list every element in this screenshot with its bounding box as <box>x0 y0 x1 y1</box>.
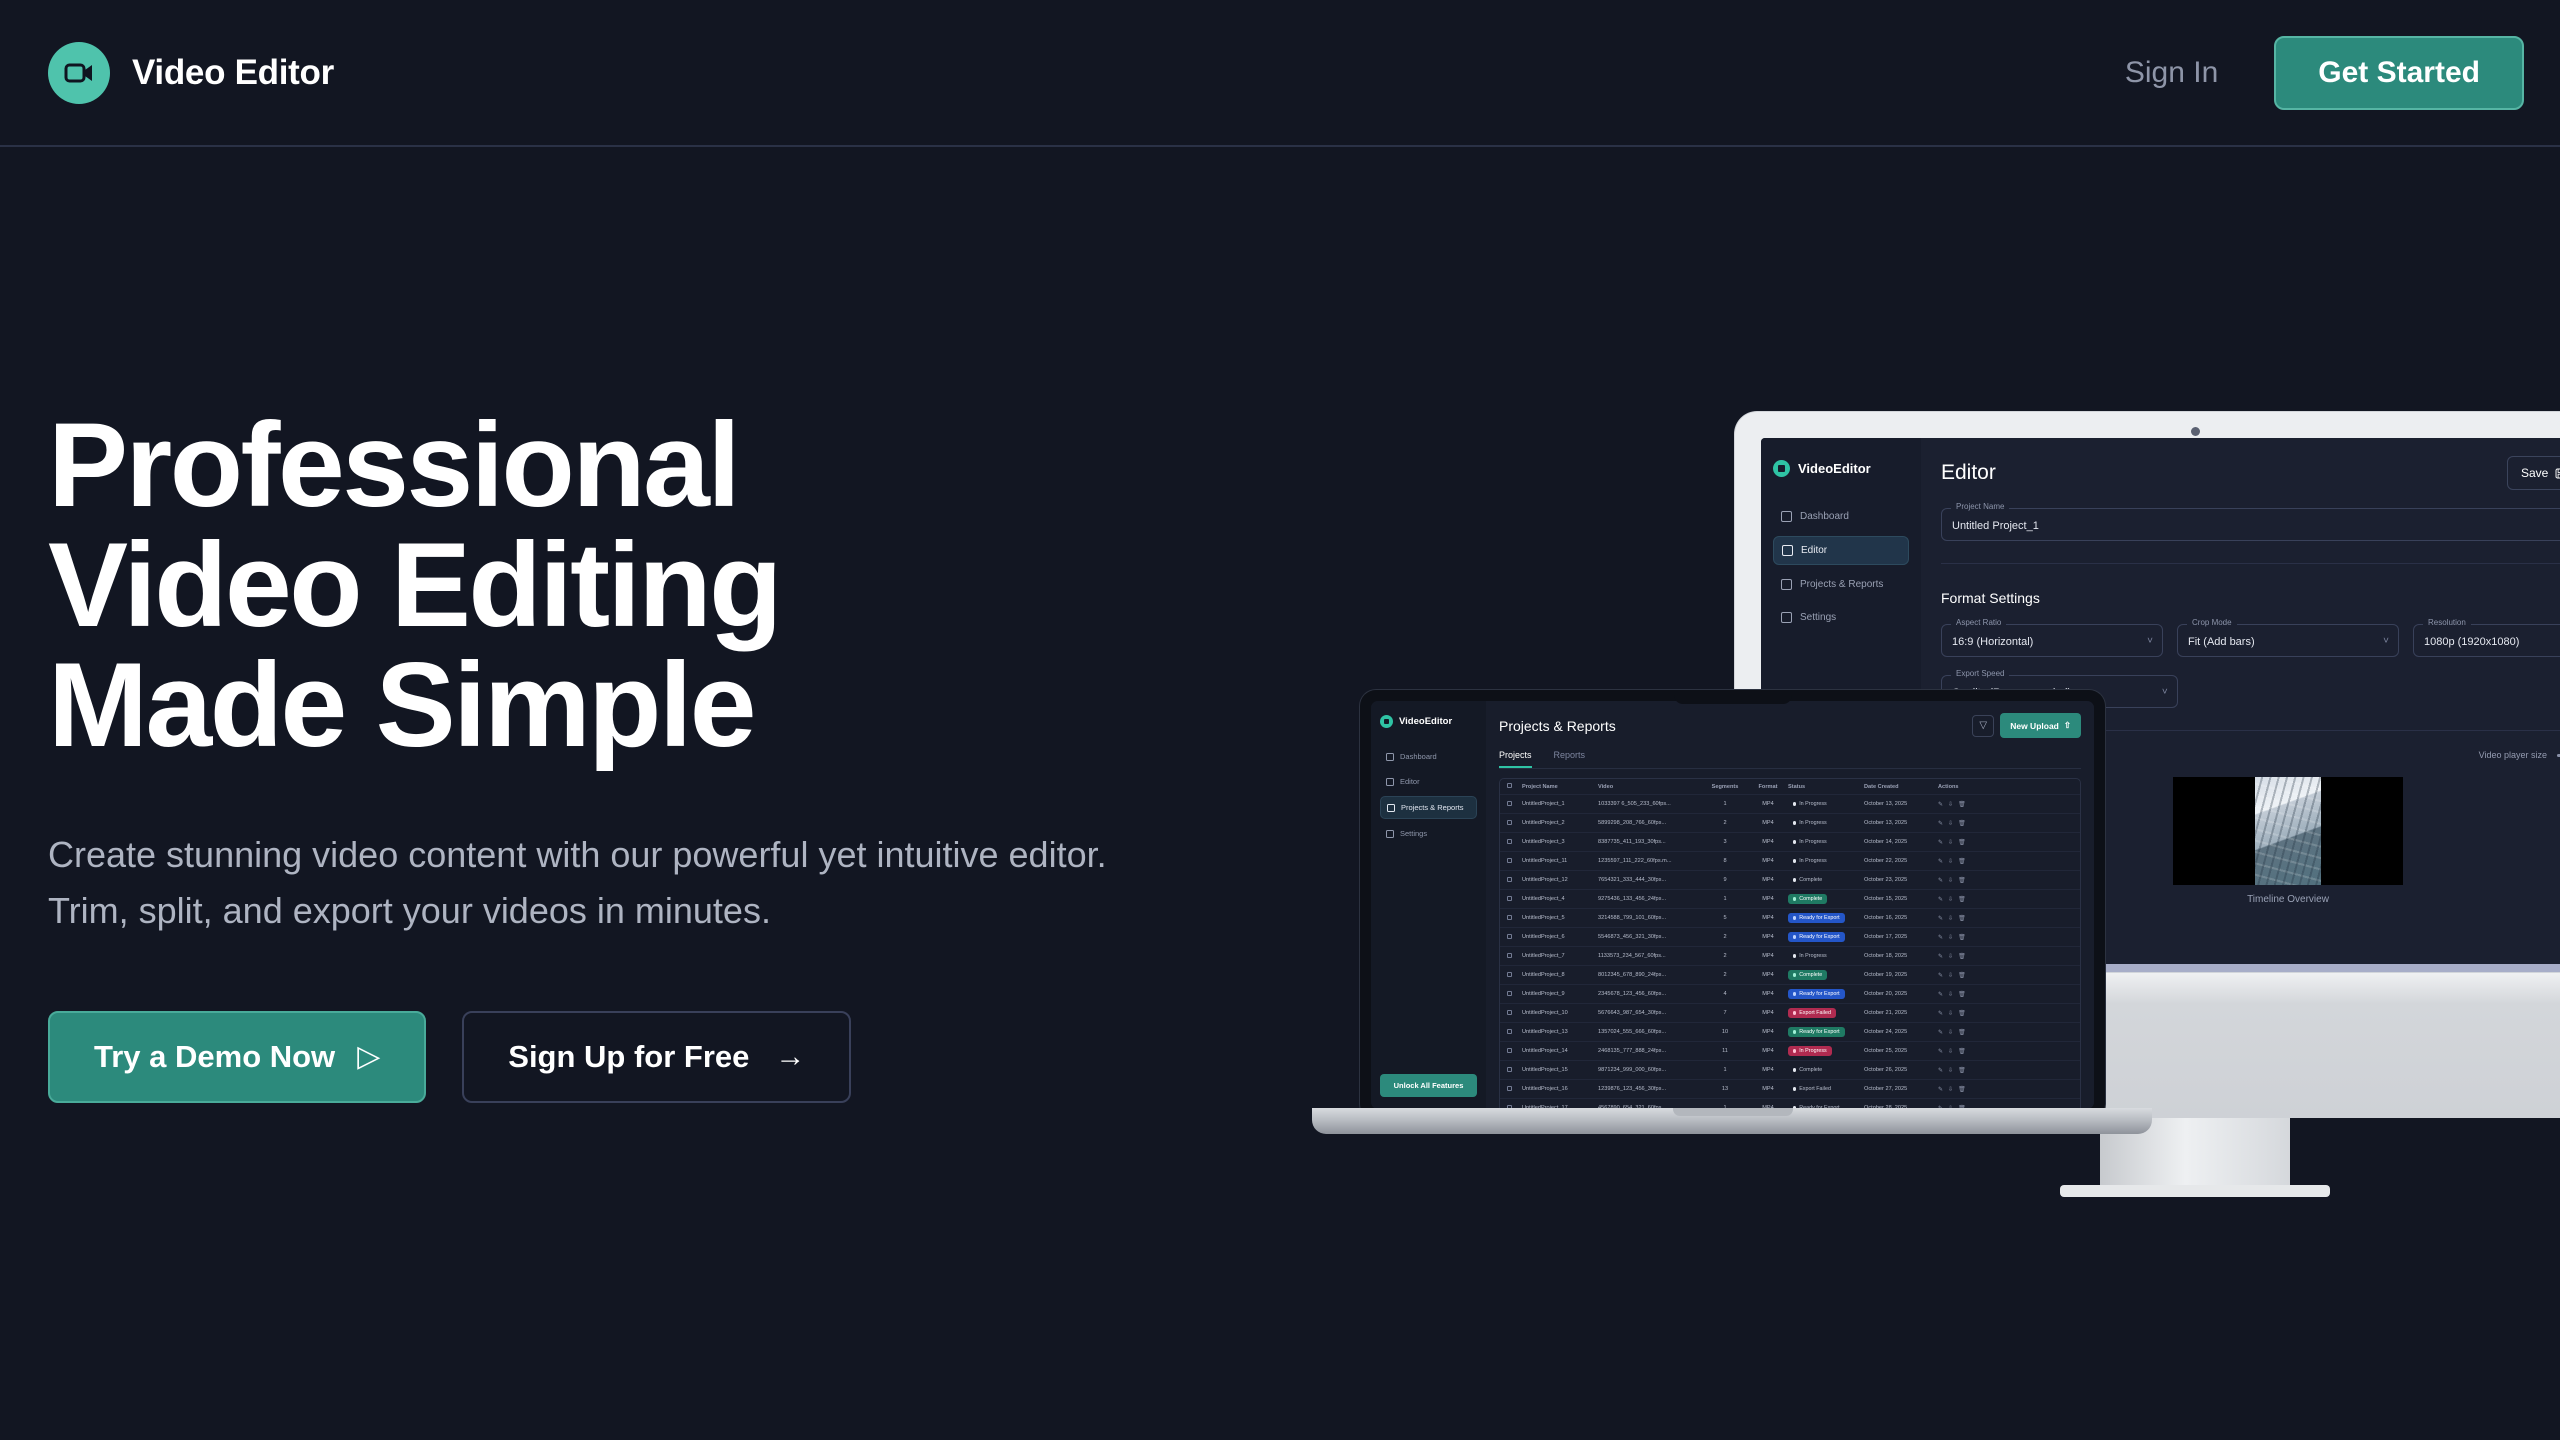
cell-format: MP4 <box>1748 858 1788 864</box>
cell-project-name: UntitledProject_1 <box>1522 801 1598 807</box>
funnel-icon[interactable]: ▽ <box>1972 715 1994 737</box>
sidebar-item-label: Editor <box>1400 777 1420 786</box>
cell-video: 2468135_777_888_24fps... <box>1598 1048 1702 1054</box>
cell-project-name: UntitledProject_5 <box>1522 915 1598 921</box>
download-icon[interactable]: ⇩ <box>1948 801 1953 808</box>
upload-icon: ⇧ <box>2064 720 2071 731</box>
cell-format: MP4 <box>1748 877 1788 883</box>
project-name-value: Untitled Project_1 <box>1952 520 2039 532</box>
sidebar-item-projects-reports[interactable]: Projects & Reports <box>1380 796 1477 819</box>
table-row[interactable]: UntitledProject_161239876_123_456_30fps.… <box>1500 1080 2080 1099</box>
sidebar-item-label: Projects & Reports <box>1401 803 1464 812</box>
cell-date-created: October 24, 2025 <box>1864 1029 1938 1035</box>
sidebar-item-settings[interactable]: Settings <box>1773 604 1909 631</box>
table-row[interactable]: UntitledProject_159871234_999_000_60fps.… <box>1500 1061 2080 1080</box>
status-badge: Ready for Export <box>1788 989 1845 999</box>
status-label: Export Failed <box>1799 1010 1831 1016</box>
delete-icon[interactable]: 🗑 <box>1958 915 1966 922</box>
status-label: Ready for Export <box>1799 991 1839 997</box>
cell-video: 7654321_333_444_30fps... <box>1598 877 1702 883</box>
laptop-app-brand-label: VideoEditor <box>1399 716 1452 727</box>
folder-icon <box>1781 579 1792 590</box>
cell-format: MP4 <box>1748 896 1788 902</box>
hero-section: Professional Video Editing Made Simple C… <box>48 405 1148 1103</box>
sidebar-item-dashboard[interactable]: Dashboard <box>1773 503 1909 530</box>
delete-icon[interactable]: 🗑 <box>1958 953 1966 960</box>
slider-label: Video player size <box>2479 750 2547 760</box>
edit-icon[interactable]: ✎ <box>1938 1029 1943 1036</box>
status-dot <box>1793 802 1796 805</box>
cell-project-name: UntitledProject_15 <box>1522 1067 1598 1073</box>
project-name-label: Project Name <box>1951 502 2009 511</box>
status-dot <box>1793 1011 1796 1014</box>
cell-format: MP4 <box>1748 972 1788 978</box>
brand-logo[interactable]: Video Editor <box>48 42 334 104</box>
download-icon[interactable]: ⇩ <box>1948 934 1953 941</box>
download-icon[interactable]: ⇩ <box>1948 991 1953 998</box>
row-checkbox[interactable] <box>1507 896 1512 901</box>
video-icon <box>1782 545 1793 556</box>
column-header-format[interactable]: Format <box>1748 784 1788 790</box>
row-checkbox[interactable] <box>1507 915 1512 920</box>
sidebar-item-label: Dashboard <box>1400 752 1437 761</box>
cell-segments: 10 <box>1702 1029 1748 1035</box>
status-badge: Ready for Export <box>1788 932 1845 942</box>
download-icon[interactable]: ⇩ <box>1948 1010 1953 1017</box>
sign-in-button[interactable]: Sign In <box>2125 56 2218 90</box>
cell-segments: 11 <box>1702 1048 1748 1054</box>
cell-segments: 8 <box>1702 858 1748 864</box>
sidebar-item-projects-reports[interactable]: Projects & Reports <box>1773 571 1909 598</box>
cell-format: MP4 <box>1748 1029 1788 1035</box>
status-dot <box>1793 821 1796 824</box>
save-button[interactable]: Save <box>2507 456 2560 490</box>
table-row[interactable]: UntitledProject_49275436_133_456_24fps..… <box>1500 890 2080 909</box>
gauge-icon <box>1781 511 1792 522</box>
cell-date-created: October 17, 2025 <box>1864 934 1938 940</box>
laptop-header-buttons: ▽ New Upload ⇧ <box>1972 713 2081 738</box>
sidebar-item-settings[interactable]: Settings <box>1380 823 1477 844</box>
edit-icon[interactable]: ✎ <box>1938 877 1943 884</box>
cell-format: MP4 <box>1748 1086 1788 1092</box>
cell-date-created: October 16, 2025 <box>1864 915 1938 921</box>
cell-format: MP4 <box>1748 839 1788 845</box>
cell-date-created: October 19, 2025 <box>1864 972 1938 978</box>
chevron-down-icon: ˅ <box>2383 635 2389 646</box>
sidebar-item-label: Settings <box>1800 612 1836 623</box>
cell-date-created: October 26, 2025 <box>1864 1067 1938 1073</box>
status-badge: Export Failed <box>1788 1084 1836 1094</box>
status-badge: Complete <box>1788 894 1827 904</box>
cell-segments: 3 <box>1702 839 1748 845</box>
delete-icon[interactable]: 🗑 <box>1958 1048 1966 1055</box>
site-header: Video Editor Sign In Get Started <box>0 0 2560 147</box>
laptop-screen: VideoEditor Dashboard Editor Projects & … <box>1371 701 2094 1109</box>
cell-format: MP4 <box>1748 991 1788 997</box>
edit-icon[interactable]: ✎ <box>1938 991 1943 998</box>
status-label: Complete <box>1799 972 1822 978</box>
laptop-app-brand: VideoEditor <box>1380 715 1477 728</box>
row-checkbox[interactable] <box>1507 953 1512 958</box>
cell-format: MP4 <box>1748 820 1788 826</box>
sidebar-item-label: Projects & Reports <box>1800 579 1883 590</box>
cell-video: 5546873_456_321_30fps... <box>1598 934 1702 940</box>
status-dot <box>1793 1030 1796 1033</box>
cell-segments: 2 <box>1702 953 1748 959</box>
cell-segments: 13 <box>1702 1086 1748 1092</box>
cell-project-name: UntitledProject_6 <box>1522 934 1598 940</box>
download-icon[interactable]: ⇩ <box>1948 896 1953 903</box>
row-checkbox[interactable] <box>1507 991 1512 996</box>
cell-segments: 4 <box>1702 991 1748 997</box>
monitor-app-brand-label: VideoEditor <box>1798 461 1871 476</box>
arrow-right-icon: → <box>775 1042 805 1072</box>
download-icon[interactable]: ⇩ <box>1948 1029 1953 1036</box>
cell-segments: 2 <box>1702 934 1748 940</box>
editor-header-buttons: Save Exp <box>2507 456 2560 490</box>
download-icon[interactable]: ⇩ <box>1948 839 1953 846</box>
status-label: Export Failed <box>1799 1086 1831 1092</box>
monitor-foot <box>2060 1185 2330 1197</box>
delete-icon[interactable]: 🗑 <box>1958 801 1966 808</box>
project-name-field[interactable]: Project Name Untitled Project_1 <box>1941 508 2560 541</box>
cell-project-name: UntitledProject_3 <box>1522 839 1598 845</box>
cell-segments: 9 <box>1702 877 1748 883</box>
download-icon[interactable]: ⇩ <box>1948 877 1953 884</box>
export-speed-label: Export Speed <box>1951 669 2009 678</box>
cell-video: 3214588_799_101_60fps... <box>1598 915 1702 921</box>
cell-project-name: UntitledProject_10 <box>1522 1010 1598 1016</box>
cell-date-created: October 20, 2025 <box>1864 991 1938 997</box>
gear-icon <box>1386 830 1394 838</box>
laptop-main: Projects & Reports ▽ New Upload ⇧ Projec… <box>1486 701 2094 1109</box>
delete-icon[interactable]: 🗑 <box>1958 1029 1966 1036</box>
brand-name: Video Editor <box>132 53 334 93</box>
cell-date-created: October 25, 2025 <box>1864 1048 1938 1054</box>
projects-table: Project Name Video Segments Format Statu… <box>1499 778 2081 1109</box>
edit-icon[interactable]: ✎ <box>1938 801 1943 808</box>
download-icon[interactable]: ⇩ <box>1948 972 1953 979</box>
format-settings-title: Format Settings <box>1941 590 2560 606</box>
hero-title-line-3: Made Simple <box>48 645 1148 765</box>
column-header-video[interactable]: Video <box>1598 784 1702 790</box>
format-settings-row-1: Aspect Ratio 16:9 (Horizontal) ˅ Crop Mo… <box>1941 606 2560 657</box>
sign-up-free-label: Sign Up for Free <box>508 1039 749 1075</box>
row-checkbox[interactable] <box>1507 1086 1512 1091</box>
new-upload-button[interactable]: New Upload ⇧ <box>2000 713 2081 738</box>
status-badge: In Progress <box>1788 799 1832 809</box>
status-dot <box>1793 1087 1796 1090</box>
sidebar-item-label: Editor <box>1801 545 1827 556</box>
floppy-disk-icon <box>2555 468 2560 479</box>
cell-video: 8387735_411_193_30fps... <box>1598 839 1702 845</box>
table-row[interactable]: UntitledProject_92345678_123_456_60fps..… <box>1500 985 2080 1004</box>
status-badge: In Progress <box>1788 837 1832 847</box>
save-label: Save <box>2521 466 2548 480</box>
status-label: Ready for Export <box>1799 934 1839 940</box>
laptop-header: Projects & Reports ▽ New Upload ⇧ <box>1499 713 2081 738</box>
cell-video: 1357024_555_666_60fps... <box>1598 1029 1702 1035</box>
monitor-header: Editor Save Exp <box>1941 456 2560 490</box>
folder-icon <box>1387 804 1395 812</box>
cell-project-name: UntitledProject_8 <box>1522 972 1598 978</box>
resolution-value: 1080p (1920x1080) <box>2424 636 2519 648</box>
cell-segments: 1 <box>1702 1067 1748 1073</box>
edit-icon[interactable]: ✎ <box>1938 934 1943 941</box>
status-label: In Progress <box>1799 801 1827 807</box>
edit-icon[interactable]: ✎ <box>1938 858 1943 865</box>
cell-format: MP4 <box>1748 953 1788 959</box>
status-dot <box>1793 1068 1796 1071</box>
row-checkbox[interactable] <box>1507 820 1512 825</box>
select-all-checkbox[interactable] <box>1507 783 1512 788</box>
cell-date-created: October 13, 2025 <box>1864 820 1938 826</box>
status-dot <box>1793 1049 1796 1052</box>
status-badge: Complete <box>1788 970 1827 980</box>
download-icon[interactable]: ⇩ <box>1948 858 1953 865</box>
laptop-device: VideoEditor Dashboard Editor Projects & … <box>1360 690 2105 1120</box>
delete-icon[interactable]: 🗑 <box>1958 1010 1966 1017</box>
table-row[interactable]: UntitledProject_105676643_987_654_30fps.… <box>1500 1004 2080 1023</box>
status-badge: Export Failed <box>1788 1008 1836 1018</box>
tab-reports[interactable]: Reports <box>1554 750 1586 768</box>
row-checkbox[interactable] <box>1507 858 1512 863</box>
aspect-ratio-value: 16:9 (Horizontal) <box>1952 636 2033 648</box>
laptop-sidebar: VideoEditor Dashboard Editor Projects & … <box>1371 701 1486 1109</box>
status-dot <box>1793 954 1796 957</box>
status-label: Ready for Export <box>1799 1029 1839 1035</box>
header-actions: Sign In Get Started <box>2125 36 2524 110</box>
cell-video: 5899298_208_766_60fps... <box>1598 820 1702 826</box>
monitor-app-brand: VideoEditor <box>1773 460 1909 477</box>
status-label: In Progress <box>1799 839 1827 845</box>
cell-segments: 5 <box>1702 915 1748 921</box>
cell-date-created: October 21, 2025 <box>1864 1010 1938 1016</box>
edit-icon[interactable]: ✎ <box>1938 1067 1943 1074</box>
laptop-notch <box>1674 690 1792 704</box>
status-label: Ready for Export <box>1799 915 1839 921</box>
product-mockup: VideoEditor Dashboard Editor Projects & … <box>1360 380 2560 1210</box>
cell-video: 1133573_234_567_60fps... <box>1598 953 1702 959</box>
try-demo-button[interactable]: Try a Demo Now ▷ <box>48 1011 426 1103</box>
status-badge: In Progress <box>1788 856 1832 866</box>
status-dot <box>1793 859 1796 862</box>
video-icon <box>1386 778 1394 786</box>
preview-thumbnail-building <box>2255 777 2321 885</box>
crop-mode-select[interactable]: Crop Mode Fit (Add bars) ˅ <box>2177 624 2399 657</box>
cell-date-created: October 22, 2025 <box>1864 858 1938 864</box>
video-preview-frame <box>2173 777 2403 885</box>
table-row[interactable]: UntitledProject_127654321_333_444_30fps.… <box>1500 871 2080 890</box>
status-badge: Complete <box>1788 1065 1827 1075</box>
status-dot <box>1793 992 1796 995</box>
delete-icon[interactable]: 🗑 <box>1958 858 1966 865</box>
unlock-all-features-button[interactable]: Unlock All Features <box>1380 1074 1477 1097</box>
edit-icon[interactable]: ✎ <box>1938 1086 1943 1093</box>
row-checkbox[interactable] <box>1507 1029 1512 1034</box>
row-checkbox[interactable] <box>1507 1010 1512 1015</box>
column-header-segments[interactable]: Segments <box>1702 784 1748 790</box>
download-icon[interactable]: ⇩ <box>1948 953 1953 960</box>
download-icon[interactable]: ⇩ <box>1948 1086 1953 1093</box>
cell-date-created: October 13, 2025 <box>1864 801 1938 807</box>
status-dot <box>1793 878 1796 881</box>
new-upload-label: New Upload <box>2010 721 2059 731</box>
status-dot <box>1793 916 1796 919</box>
status-label: In Progress <box>1799 858 1827 864</box>
cell-format: MP4 <box>1748 1067 1788 1073</box>
status-badge: In Progress <box>1788 1046 1832 1056</box>
sign-up-free-button[interactable]: Sign Up for Free → <box>462 1011 851 1103</box>
table-row[interactable]: UntitledProject_25899298_208_766_60fps..… <box>1500 814 2080 833</box>
cell-video: 8012345_678_890_24fps... <box>1598 972 1702 978</box>
table-header-row: Project Name Video Segments Format Statu… <box>1500 779 2080 795</box>
editor-page-title: Editor <box>1941 461 1996 485</box>
cell-project-name: UntitledProject_7 <box>1522 953 1598 959</box>
sidebar-item-editor[interactable]: Editor <box>1773 536 1909 565</box>
status-dot <box>1793 897 1796 900</box>
download-icon[interactable]: ⇩ <box>1948 915 1953 922</box>
delete-icon[interactable]: 🗑 <box>1958 1067 1966 1074</box>
hero-cta-group: Try a Demo Now ▷ Sign Up for Free → <box>48 1011 1148 1103</box>
delete-icon[interactable]: 🗑 <box>1958 839 1966 846</box>
resolution-select[interactable]: Resolution 1080p (1920x1080) ˅ <box>2413 624 2560 657</box>
table-row[interactable]: UntitledProject_65546873_456_321_30fps..… <box>1500 928 2080 947</box>
download-icon[interactable]: ⇩ <box>1948 1048 1953 1055</box>
row-checkbox[interactable] <box>1507 839 1512 844</box>
cell-segments: 7 <box>1702 1010 1748 1016</box>
cell-project-name: UntitledProject_16 <box>1522 1086 1598 1092</box>
edit-icon[interactable]: ✎ <box>1938 1010 1943 1017</box>
download-icon[interactable]: ⇩ <box>1948 1067 1953 1074</box>
edit-icon[interactable]: ✎ <box>1938 915 1943 922</box>
status-label: Complete <box>1799 877 1822 883</box>
cell-project-name: UntitledProject_12 <box>1522 877 1598 883</box>
cell-video: 1239876_123_456_30fps... <box>1598 1086 1702 1092</box>
status-label: In Progress <box>1799 820 1827 826</box>
edit-icon[interactable]: ✎ <box>1938 839 1943 846</box>
status-dot <box>1793 935 1796 938</box>
cell-date-created: October 18, 2025 <box>1864 953 1938 959</box>
cell-project-name: UntitledProject_9 <box>1522 991 1598 997</box>
video-camera-icon <box>1773 460 1790 477</box>
video-camera-icon <box>48 42 110 104</box>
table-row[interactable]: UntitledProject_111235597_111_222_60fps.… <box>1500 852 2080 871</box>
table-row[interactable]: UntitledProject_53214588_799_101_60fps..… <box>1500 909 2080 928</box>
status-badge: In Progress <box>1788 951 1832 961</box>
delete-icon[interactable]: 🗑 <box>1958 934 1966 941</box>
table-row[interactable]: UntitledProject_11033397 6_505_233_60fps… <box>1500 795 2080 814</box>
status-label: In Progress <box>1799 953 1827 959</box>
column-header-project-name[interactable]: Project Name <box>1522 784 1598 790</box>
laptop-base-notch <box>1673 1108 1793 1116</box>
sidebar-item-label: Settings <box>1400 829 1427 838</box>
row-checkbox[interactable] <box>1507 877 1512 882</box>
sidebar-item-dashboard[interactable]: Dashboard <box>1380 746 1477 767</box>
divider <box>1941 563 2560 564</box>
cell-format: MP4 <box>1748 801 1788 807</box>
cell-segments: 2 <box>1702 972 1748 978</box>
cell-project-name: UntitledProject_4 <box>1522 896 1598 902</box>
get-started-button[interactable]: Get Started <box>2274 36 2524 110</box>
status-badge: Complete <box>1788 875 1827 885</box>
table-row[interactable]: UntitledProject_142468135_777_888_24fps.… <box>1500 1042 2080 1061</box>
cell-video: 2345678_123_456_60fps... <box>1598 991 1702 997</box>
cell-date-created: October 14, 2025 <box>1864 839 1938 845</box>
cell-date-created: October 23, 2025 <box>1864 877 1938 883</box>
delete-icon[interactable]: 🗑 <box>1958 972 1966 979</box>
delete-icon[interactable]: 🗑 <box>1958 1086 1966 1093</box>
cell-format: MP4 <box>1748 915 1788 921</box>
play-triangle-icon: ▷ <box>357 1042 380 1072</box>
cell-date-created: October 15, 2025 <box>1864 896 1938 902</box>
table-row[interactable]: UntitledProject_71133573_234_567_60fps..… <box>1500 947 2080 966</box>
table-row[interactable]: UntitledProject_88012345_678_890_24fps..… <box>1500 966 2080 985</box>
row-checkbox[interactable] <box>1507 801 1512 806</box>
row-checkbox[interactable] <box>1507 972 1512 977</box>
projects-page-title: Projects & Reports <box>1499 718 1616 734</box>
cell-segments: 1 <box>1702 801 1748 807</box>
row-checkbox[interactable] <box>1507 934 1512 939</box>
cell-format: MP4 <box>1748 1010 1788 1016</box>
column-header-date-created[interactable]: Date Created <box>1864 784 1938 790</box>
hero-subtitle: Create stunning video content with our p… <box>48 827 1108 939</box>
status-label: Complete <box>1799 1067 1822 1073</box>
cell-segments: 2 <box>1702 820 1748 826</box>
status-dot <box>1793 840 1796 843</box>
cell-video: 9871234_999_000_60fps... <box>1598 1067 1702 1073</box>
row-checkbox[interactable] <box>1507 1048 1512 1053</box>
sidebar-item-label: Dashboard <box>1800 511 1849 522</box>
delete-icon[interactable]: 🗑 <box>1958 877 1966 884</box>
crop-mode-value: Fit (Add bars) <box>2188 636 2255 648</box>
cell-date-created: October 27, 2025 <box>1864 1086 1938 1092</box>
edit-icon[interactable]: ✎ <box>1938 820 1943 827</box>
cell-video: 1033397 6_505_233_60fps... <box>1598 801 1702 807</box>
cell-format: MP4 <box>1748 1048 1788 1054</box>
tab-projects[interactable]: Projects <box>1499 750 1532 768</box>
gauge-icon <box>1386 753 1394 761</box>
edit-icon[interactable]: ✎ <box>1938 972 1943 979</box>
edit-icon[interactable]: ✎ <box>1938 896 1943 903</box>
aspect-ratio-label: Aspect Ratio <box>1951 618 2006 627</box>
column-header-status[interactable]: Status <box>1788 784 1864 790</box>
cell-project-name: UntitledProject_14 <box>1522 1048 1598 1054</box>
chevron-down-icon: ˅ <box>2162 686 2168 697</box>
delete-icon[interactable]: 🗑 <box>1958 991 1966 998</box>
cell-video: 9275436_133_456_24fps... <box>1598 896 1702 902</box>
cell-video: 5676643_987_654_30fps... <box>1598 1010 1702 1016</box>
sidebar-item-editor[interactable]: Editor <box>1380 771 1477 792</box>
delete-icon[interactable]: 🗑 <box>1958 896 1966 903</box>
table-body: UntitledProject_11033397 6_505_233_60fps… <box>1500 795 2080 1109</box>
edit-icon[interactable]: ✎ <box>1938 1048 1943 1055</box>
delete-icon[interactable]: 🗑 <box>1958 820 1966 827</box>
edit-icon[interactable]: ✎ <box>1938 953 1943 960</box>
table-row[interactable]: UntitledProject_38387735_411_193_30fps..… <box>1500 833 2080 852</box>
aspect-ratio-select[interactable]: Aspect Ratio 16:9 (Horizontal) ˅ <box>1941 624 2163 657</box>
video-camera-icon <box>1380 715 1393 728</box>
download-icon[interactable]: ⇩ <box>1948 820 1953 827</box>
cell-project-name: UntitledProject_13 <box>1522 1029 1598 1035</box>
crop-mode-label: Crop Mode <box>2187 618 2237 627</box>
gear-icon <box>1781 612 1792 623</box>
cell-video: 1235597_111_222_60fps.m... <box>1598 858 1702 864</box>
video-player-size-slider[interactable]: Video player size <box>2479 750 2560 760</box>
row-checkbox[interactable] <box>1507 1067 1512 1072</box>
table-row[interactable]: UntitledProject_131357024_555_666_60fps.… <box>1500 1023 2080 1042</box>
column-header-actions: Actions <box>1938 784 1982 790</box>
